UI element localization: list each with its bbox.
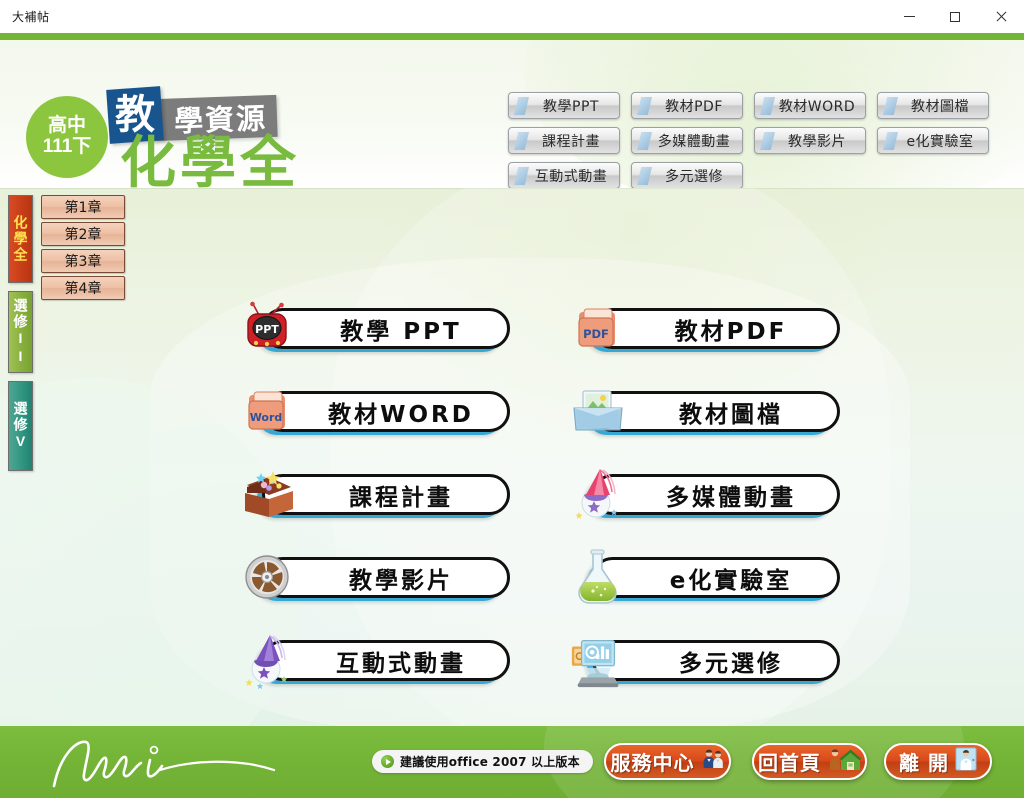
menu-label: 互動式動畫: [306, 644, 466, 678]
chip-5[interactable]: 多媒體動畫: [631, 127, 743, 154]
sidebar-spine-elective-2[interactable]: 選修II: [8, 291, 33, 373]
menu-item-material-images[interactable]: 教材圖檔: [568, 383, 840, 439]
chip-label: 教材PDF: [651, 96, 723, 116]
pdf-folder-icon: PDF: [568, 300, 628, 356]
film-reel-icon: [238, 549, 298, 605]
house-icon: [827, 747, 861, 776]
nani-brand-logo: Nani: [42, 730, 302, 797]
chip-6[interactable]: 教學影片: [754, 127, 866, 154]
chip-7[interactable]: e化實驗室: [877, 127, 989, 154]
top-category-nav: 教學PPT 教材PDF 教材WORD 教材圖檔 課程計畫 多媒體動畫: [508, 92, 1006, 188]
footer-bar: Nani 建議使用office 2007 以上版本 服務中心: [0, 726, 1024, 798]
chip-label: 教材WORD: [765, 96, 855, 116]
menu-item-course-plan[interactable]: 課程計畫: [238, 466, 510, 522]
chip-0[interactable]: 教學PPT: [508, 92, 620, 119]
chip-2[interactable]: 教材WORD: [754, 92, 866, 119]
flag-icon: [637, 97, 652, 115]
grade-bubble-line1: 高中: [48, 116, 86, 137]
chip-8[interactable]: 互動式動畫: [508, 162, 620, 188]
menu-label: 課程計畫: [319, 478, 453, 512]
home-label: 回首頁: [758, 747, 821, 776]
magic-hat-purple-icon: [238, 632, 298, 688]
menu-pill: 課程計畫: [262, 474, 510, 515]
chip-label: 教材圖檔: [897, 96, 969, 116]
maximize-icon: [950, 12, 960, 22]
menu-item-diverse-electives[interactable]: 多元選修: [568, 632, 840, 688]
flag-icon: [883, 97, 898, 115]
maximize-button[interactable]: [932, 0, 978, 33]
minimize-icon: [904, 16, 915, 17]
menu-pill: 教材PDF: [592, 308, 840, 349]
resource-menu-grid: PPT 教學 PPT PDF: [238, 300, 878, 688]
home-button[interactable]: 回首頁: [752, 743, 867, 780]
left-rail: 化學全 選修II 選修V 第1章 第2章 第3章 第4章: [8, 195, 126, 477]
office-note-text: 建議使用office 2007 以上版本: [400, 753, 580, 770]
chapter-tab-1[interactable]: 第1章: [41, 195, 125, 219]
menu-item-multimedia-animation[interactable]: 多媒體動畫: [568, 466, 840, 522]
menu-item-e-lab[interactable]: e化實驗室: [568, 549, 840, 605]
jiao-badge-char: 教: [115, 95, 155, 135]
nani-wordmark-text: Nani: [42, 730, 75, 734]
chip-4[interactable]: 課程計畫: [508, 127, 620, 154]
flask-icon: [568, 549, 628, 605]
chapter-tab-3[interactable]: 第3章: [41, 249, 125, 273]
chip-9[interactable]: 多元選修: [631, 162, 743, 188]
svg-text:PPT: PPT: [255, 323, 279, 336]
window-title: 大補帖: [12, 8, 50, 25]
grade-bubble-line2: 111下: [43, 137, 92, 158]
chip-1[interactable]: 教材PDF: [631, 92, 743, 119]
menu-label: 教材WORD: [298, 395, 474, 429]
image-archive-icon: [568, 383, 628, 439]
svg-text:Word: Word: [250, 411, 283, 424]
exit-door-icon: [955, 747, 977, 776]
menu-label: 教學影片: [319, 561, 453, 595]
chapter-list: 第1章 第2章 第3章 第4章: [41, 195, 125, 303]
menu-pill: 教材WORD: [262, 391, 510, 432]
menu-pill: e化實驗室: [592, 557, 840, 598]
monitor-chart-icon: [568, 632, 628, 688]
svg-text:PDF: PDF: [583, 327, 609, 341]
word-folder-icon: Word: [238, 383, 298, 439]
office-version-note: 建議使用office 2007 以上版本: [372, 750, 593, 773]
chip-3[interactable]: 教材圖檔: [877, 92, 989, 119]
chip-label: e化實驗室: [892, 131, 973, 151]
menu-pill: 互動式動畫: [262, 640, 510, 681]
menu-pill: 多元選修: [592, 640, 840, 681]
chip-label: 教學PPT: [529, 96, 599, 116]
menu-label: 多媒體動畫: [636, 478, 796, 512]
menu-pill: 教學 PPT: [262, 308, 510, 349]
service-center-button[interactable]: 服務中心: [604, 743, 731, 780]
header-band: 高中 111下 教 學資源 化學全 教學PPT 教材PDF 教材WORD: [0, 40, 1024, 188]
menu-item-material-pdf[interactable]: PDF 教材PDF: [568, 300, 840, 356]
chapter-tab-4[interactable]: 第4章: [41, 276, 125, 300]
menu-pill: 多媒體動畫: [592, 474, 840, 515]
menu-pill: 教學影片: [262, 557, 510, 598]
exit-button[interactable]: 離 開: [884, 743, 992, 780]
sidebar-spine-elective-5[interactable]: 選修V: [8, 381, 33, 471]
main-stage: 化學全 選修II 選修V 第1章 第2章 第3章 第4章: [0, 188, 1024, 726]
chip-label: 多元選修: [651, 166, 723, 186]
top-accent-rule: [0, 33, 1024, 40]
menu-label: e化實驗室: [640, 561, 793, 595]
close-button[interactable]: [978, 0, 1024, 33]
menu-item-interactive-animation[interactable]: 互動式動畫: [238, 632, 510, 688]
menu-label: 教材圖檔: [649, 395, 783, 429]
chip-label: 課程計畫: [528, 131, 600, 151]
flag-icon: [637, 167, 652, 185]
menu-item-teaching-ppt[interactable]: PPT 教學 PPT: [238, 300, 510, 356]
menu-item-material-word[interactable]: Word 教材WORD: [238, 383, 510, 439]
flag-icon: [760, 132, 775, 150]
menu-label: 多元選修: [649, 644, 783, 678]
window-controls: [886, 0, 1024, 33]
ppt-tv-icon: PPT: [238, 300, 298, 356]
chip-label: 多媒體動畫: [644, 131, 731, 151]
chapter-tab-2[interactable]: 第2章: [41, 222, 125, 246]
treasure-chest-icon: [238, 466, 298, 522]
application-body: 高中 111下 教 學資源 化學全 教學PPT 教材PDF 教材WORD: [0, 33, 1024, 798]
magic-hat-pink-icon: [568, 466, 628, 522]
window-titlebar: 大補帖: [0, 0, 1024, 33]
menu-pill: 教材圖檔: [592, 391, 840, 432]
minimize-button[interactable]: [886, 0, 932, 33]
exit-label: 離 開: [899, 747, 949, 776]
menu-item-teaching-video[interactable]: 教學影片: [238, 549, 510, 605]
sidebar-spine-chemistry[interactable]: 化學全: [8, 195, 33, 283]
menu-label: 教材PDF: [645, 312, 788, 346]
menu-label: 教學 PPT: [310, 312, 461, 346]
service-center-label: 服務中心: [611, 747, 695, 776]
chip-label: 互動式動畫: [521, 166, 608, 186]
close-icon: [995, 11, 1007, 23]
flag-icon: [514, 132, 529, 150]
page-title: 化學全: [120, 136, 300, 188]
play-icon: [381, 755, 394, 768]
grade-bubble-badge: 高中 111下: [26, 96, 108, 178]
people-icon: [701, 747, 725, 776]
flag-icon: [514, 97, 529, 115]
chip-label: 教學影片: [774, 131, 846, 151]
